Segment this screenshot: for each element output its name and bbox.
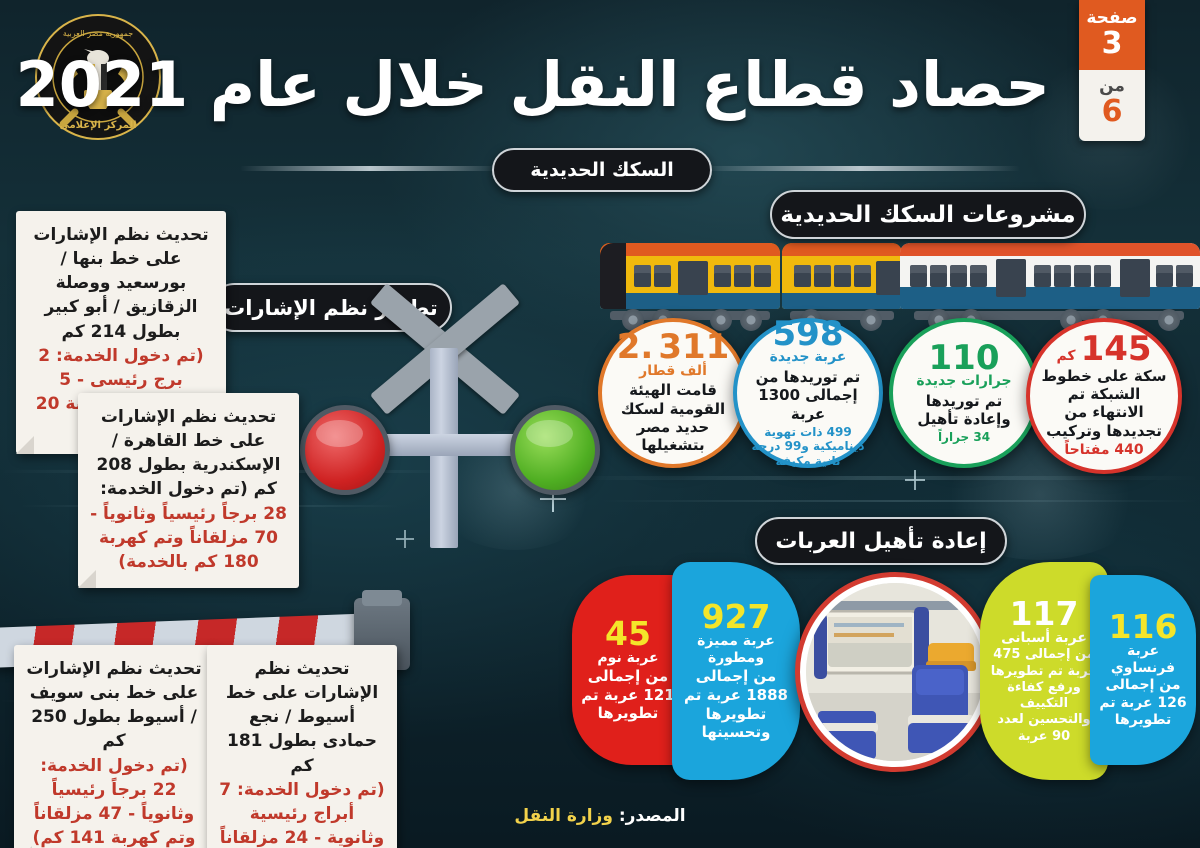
background-streak	[600, 500, 1200, 502]
page-number: 3	[1079, 28, 1145, 60]
stat-footnote: 34 جراراً	[938, 430, 990, 444]
source-label: المصدر:	[619, 806, 686, 826]
railway-crossing-sign-icon	[330, 248, 560, 548]
stat-body: قامت الهيئة القومية لسكك حديد مصر بتشغيل…	[612, 381, 734, 454]
petal-unit: عربة مميزة ومطورة	[680, 633, 792, 667]
stat-unit: عربة جديدة	[770, 350, 847, 365]
source-line: المصدر: وزارة النقل	[0, 806, 1200, 826]
note-text-black: تحديث نظم الإشارات على خط أسيوط / نجع حم…	[226, 659, 378, 776]
source-value: وزارة النقل	[514, 806, 612, 826]
petal-value: 116	[1109, 610, 1178, 643]
page-indicator: صفحة 3 من 6	[1079, 0, 1145, 141]
note-text-red: (تم دخول الخدمة: 22 برجاً رئيسياً وثانوي…	[26, 754, 202, 848]
page-indicator-current: صفحة 3	[1079, 0, 1145, 70]
stat-value: 145	[1081, 333, 1152, 365]
infographic-canvas: المركز الإعلامى جمهورية مصر العربية حصاد…	[0, 0, 1200, 848]
note-text-red: 28 برجاً رئيسياً وثانوياً - 70 مزلقاناً …	[90, 502, 287, 574]
signal-lamp-red-icon	[300, 405, 390, 495]
stat-body: سكة على خطوط الشبكة تم الانتهاء من تجديد…	[1040, 367, 1168, 440]
page-label: صفحة	[1079, 9, 1145, 28]
stat-circle-track-renewal: 145 كم سكة على خطوط الشبكة تم الانتهاء م…	[1026, 318, 1182, 474]
petal-value: 45	[605, 617, 651, 650]
section-title-projects: مشروعات السكك الحديدية	[770, 190, 1086, 239]
divider-right	[700, 166, 1020, 171]
train-interior-photo	[795, 572, 995, 772]
stat-unit: كم	[1056, 349, 1075, 364]
petal-value: 117	[1010, 597, 1079, 630]
stat-footnote: 499 ذات تهوية ديناميكية و99 درجة ثانية م…	[747, 425, 869, 468]
stat-value: 311	[658, 331, 729, 363]
stat-footnote: 440 مفتاحاً	[1064, 442, 1143, 459]
petal-value: 927	[702, 600, 771, 633]
stat-value: 110	[929, 342, 1000, 374]
divider-left	[240, 166, 500, 171]
stat-decimal: .2	[617, 331, 654, 363]
petal-sleeper-cars: 45 عربة نوم من إجمالى 121 عربة تم تطويره…	[572, 575, 684, 765]
note-text-black: تحديث نظم الإشارات على خط بنى سويف / أسي…	[26, 659, 201, 751]
svg-text:جمهورية مصر العربية: جمهورية مصر العربية	[63, 29, 133, 38]
note-card-cairo-alexandria: تحديث نظم الإشارات على خط القاهرة / الإس…	[78, 393, 299, 588]
subtitle-pill-railways: السكك الحديدية	[492, 148, 712, 192]
svg-text:المركز الإعلامى: المركز الإعلامى	[59, 120, 136, 131]
page-title: حصاد قطاع النقل خلال عام 2021	[16, 48, 1050, 121]
petal-unit: عربة أسبانى	[1001, 630, 1087, 647]
petal-unit: عربة نوم	[597, 650, 658, 667]
petal-upgraded-cars: 927 عربة مميزة ومطورة من إجمالى 1888 عرب…	[672, 562, 800, 780]
stat-unit: جرارات جديدة	[916, 374, 1011, 389]
petal-unit: عربة فرنساوي	[1098, 643, 1188, 677]
sparkle-icon	[905, 470, 925, 490]
petal-body: من إجمالى 475 عربة تم تطويرها ورفع كفاءة…	[988, 647, 1100, 745]
stat-value: 598	[773, 318, 844, 350]
stat-circle-new-carriages: 598 عربة جديدة تم توريدها من إجمالى 1300…	[733, 318, 883, 468]
stat-unit: ألف قطار	[639, 364, 707, 379]
page-indicator-total: من 6	[1079, 70, 1145, 141]
stat-circle-locomotives: 110 جرارات جديدة تم توريدها وإعادة تأهيل…	[889, 318, 1039, 468]
stat-body: تم توريدها وإعادة تأهيل	[903, 392, 1025, 429]
background-streak	[560, 476, 1200, 480]
signal-lamp-green-icon	[510, 405, 600, 495]
petal-body: من إجمالى 126 عربة تم تطويرها	[1098, 677, 1188, 730]
stat-circle-trains-operated: 311 .2 ألف قطار قامت الهيئة القومية لسكك…	[598, 318, 748, 468]
petal-body: من إجمالى 1888 عربة تم تطويرها وتحسينها	[680, 667, 792, 742]
petal-spanish-cars: 117 عربة أسبانى من إجمالى 475 عربة تم تط…	[980, 562, 1108, 780]
petal-french-cars: 116 عربة فرنساوي من إجمالى 126 عربة تم ت…	[1090, 575, 1196, 765]
page-total: 6	[1079, 96, 1145, 128]
section-title-rehab: إعادة تأهيل العربات	[755, 517, 1007, 565]
stat-body: تم توريدها من إجمالى 1300 عربة	[747, 368, 869, 423]
note-text-black: تحديث نظم الإشارات على خط القاهرة / الإس…	[96, 407, 280, 499]
note-text-black: تحديث نظم الإشارات على خط بنها / بورسعيد…	[33, 225, 208, 342]
petal-body: من إجمالى 121 عربة تم تطويرها	[580, 667, 676, 723]
